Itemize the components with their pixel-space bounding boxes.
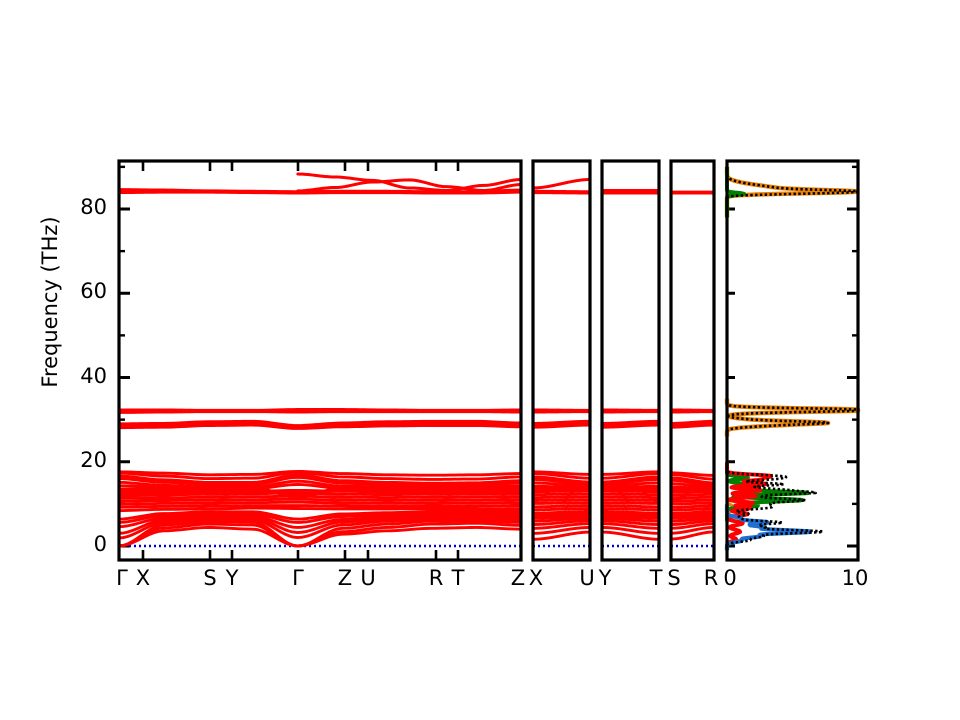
y-tick-label: 80 [67,195,107,219]
x-tick-label: Γ [278,566,318,590]
x-tick-label: T [438,566,478,590]
x-tick-label: X [123,566,163,590]
x-tick-label: U [348,566,388,590]
y-axis-label: Frequency (THz) [38,192,62,412]
x-tick-label: Y [585,566,625,590]
y-tick-label: 40 [67,364,107,388]
y-tick-label: 60 [67,279,107,303]
y-tick-label: 20 [67,448,107,472]
x-tick-label: S [654,566,694,590]
plot-canvas [0,0,960,720]
phonon-band-dos-figure: Frequency (THz) 020406080 ΓXSYΓZURTZXUYT… [0,0,960,720]
figure-background [0,0,960,720]
x-tick-label: 0 [710,566,750,590]
x-tick-label: X [516,566,556,590]
y-tick-label: 0 [67,532,107,556]
x-tick-label: Y [212,566,252,590]
x-tick-label: 10 [835,566,875,590]
